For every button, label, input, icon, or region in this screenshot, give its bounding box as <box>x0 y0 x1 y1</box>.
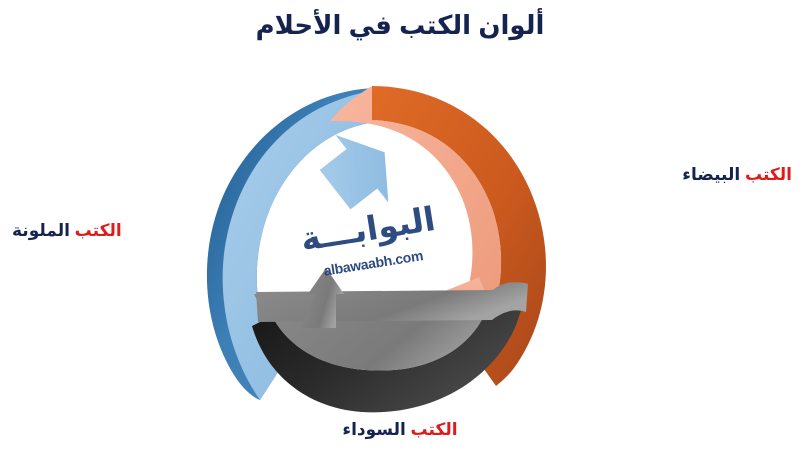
label-colored-books-word2: الملونة <box>12 221 70 240</box>
label-colored-books: الكتب الملونة <box>12 222 192 241</box>
label-black-books-word2: السوداء <box>342 420 405 439</box>
label-white-books-word2: البيضاء <box>682 165 740 184</box>
page-canvas: ألوان الكتب في الأحلام <box>0 0 800 463</box>
page-title: ألوان الكتب في الأحلام <box>0 10 800 41</box>
label-black-books-word1: الكتب <box>411 420 458 439</box>
cycle-diagram <box>196 78 564 418</box>
label-colored-books-word1: الكتب <box>75 221 122 240</box>
label-white-books: الكتب البيضاء <box>562 166 792 185</box>
label-white-books-word1: الكتب <box>745 165 792 184</box>
label-black-books: الكتب السوداء <box>0 421 800 440</box>
